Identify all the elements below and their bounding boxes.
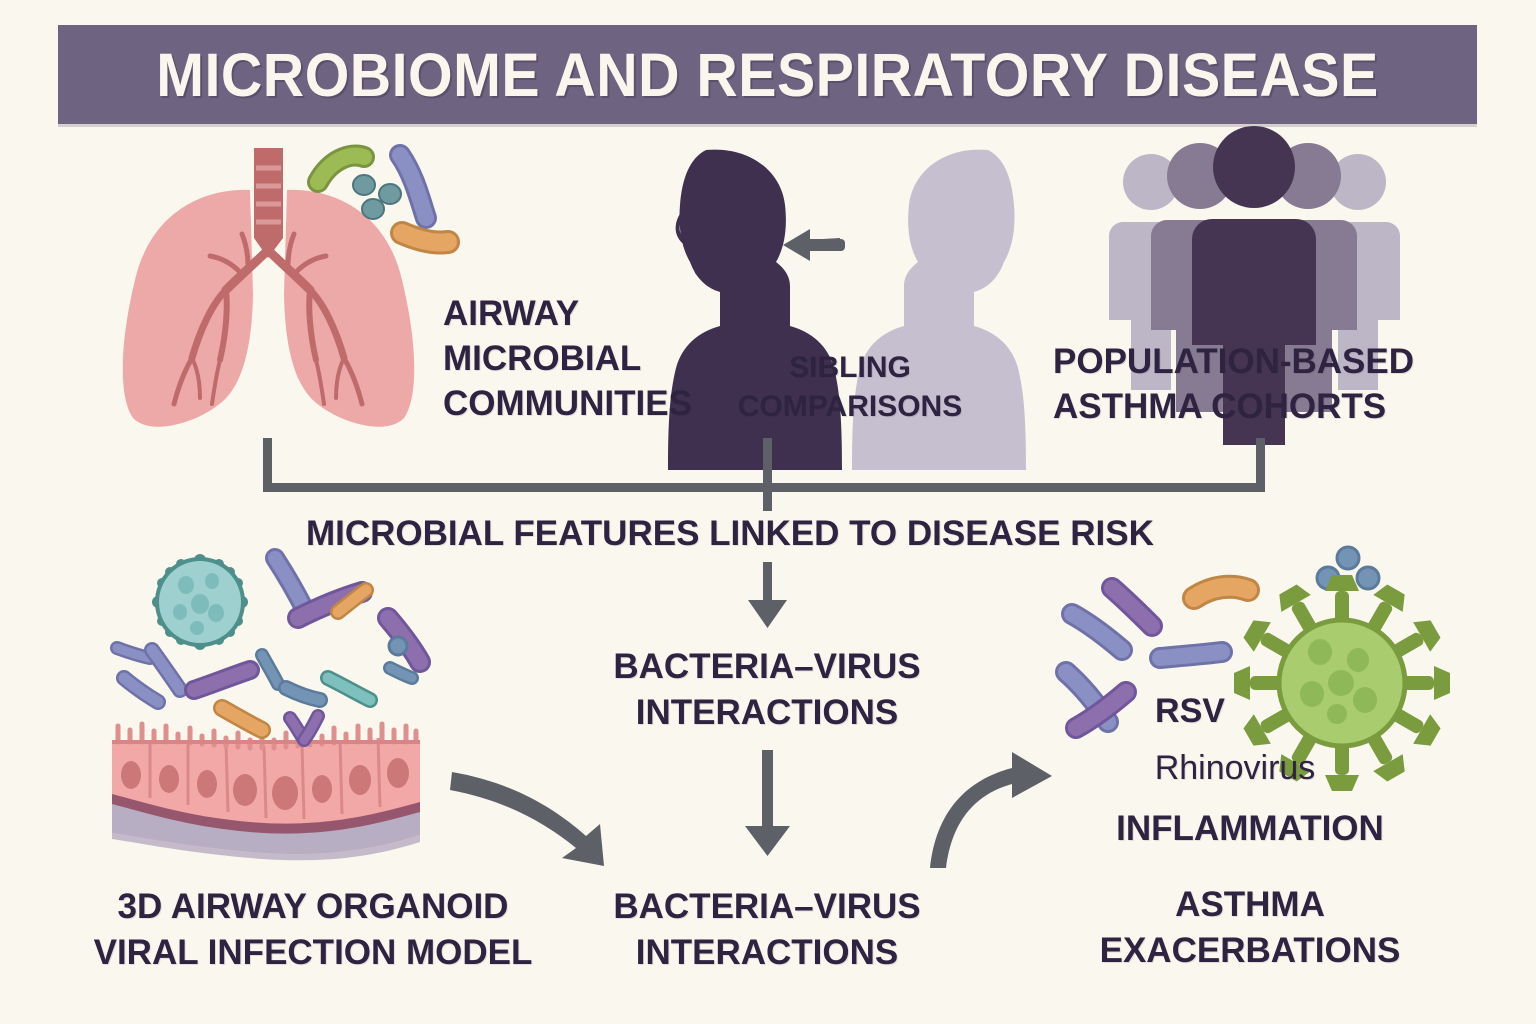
airway-microbial-communities-label: AIRWAY MICROBIAL COMMUNITIES xyxy=(443,292,692,426)
bvi-bottom-line1: BACTERIA–VIRUS xyxy=(567,884,967,930)
bvi-top-line1: BACTERIA–VIRUS xyxy=(567,644,967,690)
center-down-arrow xyxy=(745,750,790,856)
bacteria-virus-interactions-bottom-label: BACTERIA–VIRUS INTERACTIONS xyxy=(567,884,967,976)
lungs-icon xyxy=(123,148,415,427)
rsv-label: RSV xyxy=(1090,691,1290,732)
asthma-label-line2: EXACERBATIONS xyxy=(1050,928,1450,974)
sibling-comparisons-label: SIBLING COMPARISONS xyxy=(700,348,1000,426)
population-label-line2: ASTHMA COHORTS xyxy=(1053,385,1453,430)
rhinovirus-label: Rhinovirus xyxy=(1060,748,1410,789)
sibling-label-line1: SIBLING xyxy=(700,348,1000,387)
airway-organoid-model-label: 3D AIRWAY ORGANOID VIRAL INFECTION MODEL xyxy=(78,884,548,976)
sibling-label-line2: COMPARISONS xyxy=(700,387,1000,426)
airway-label-line2: MICROBIAL xyxy=(443,337,692,382)
infographic-canvas: MICROBIOME AND RESPIRATORY DISEASE xyxy=(0,0,1536,1024)
microbial-features-label: MICROBIAL FEATURES LINKED TO DISEASE RIS… xyxy=(306,513,1154,555)
teal-virus-icon xyxy=(152,554,248,650)
bacteria-virus-interactions-top-label: BACTERIA–VIRUS INTERACTIONS xyxy=(567,644,967,736)
page-title: MICROBIOME AND RESPIRATORY DISEASE xyxy=(101,25,1435,124)
inflammation-label: INFLAMMATION xyxy=(1050,808,1450,850)
airway-label-line3: COMMUNITIES xyxy=(443,382,692,427)
organoid-label-line2: VIRAL INFECTION MODEL xyxy=(78,930,548,976)
population-asthma-cohorts-label: POPULATION-BASED ASTHMA COHORTS xyxy=(1053,340,1453,430)
sibling-arrow-icon xyxy=(783,229,845,261)
airway-epithelium-icon xyxy=(112,724,420,860)
airway-label-line1: AIRWAY xyxy=(443,292,692,337)
organoid-label-line1: 3D AIRWAY ORGANOID xyxy=(78,884,548,930)
illustration-layer xyxy=(0,0,1536,1024)
bvi-top-line2: INTERACTIONS xyxy=(567,690,967,736)
curved-arrow-right xyxy=(930,752,1052,868)
population-label-line1: POPULATION-BASED xyxy=(1053,340,1453,385)
asthma-exacerbations-label: ASTHMA EXACERBATIONS xyxy=(1050,882,1450,974)
bvi-bottom-line2: INTERACTIONS xyxy=(567,930,967,976)
lung-bacteria-icon xyxy=(318,155,448,243)
asthma-label-line1: ASTHMA xyxy=(1050,882,1450,928)
organoid-bacteria-icon xyxy=(117,558,420,740)
curved-arrow-left xyxy=(450,772,604,866)
